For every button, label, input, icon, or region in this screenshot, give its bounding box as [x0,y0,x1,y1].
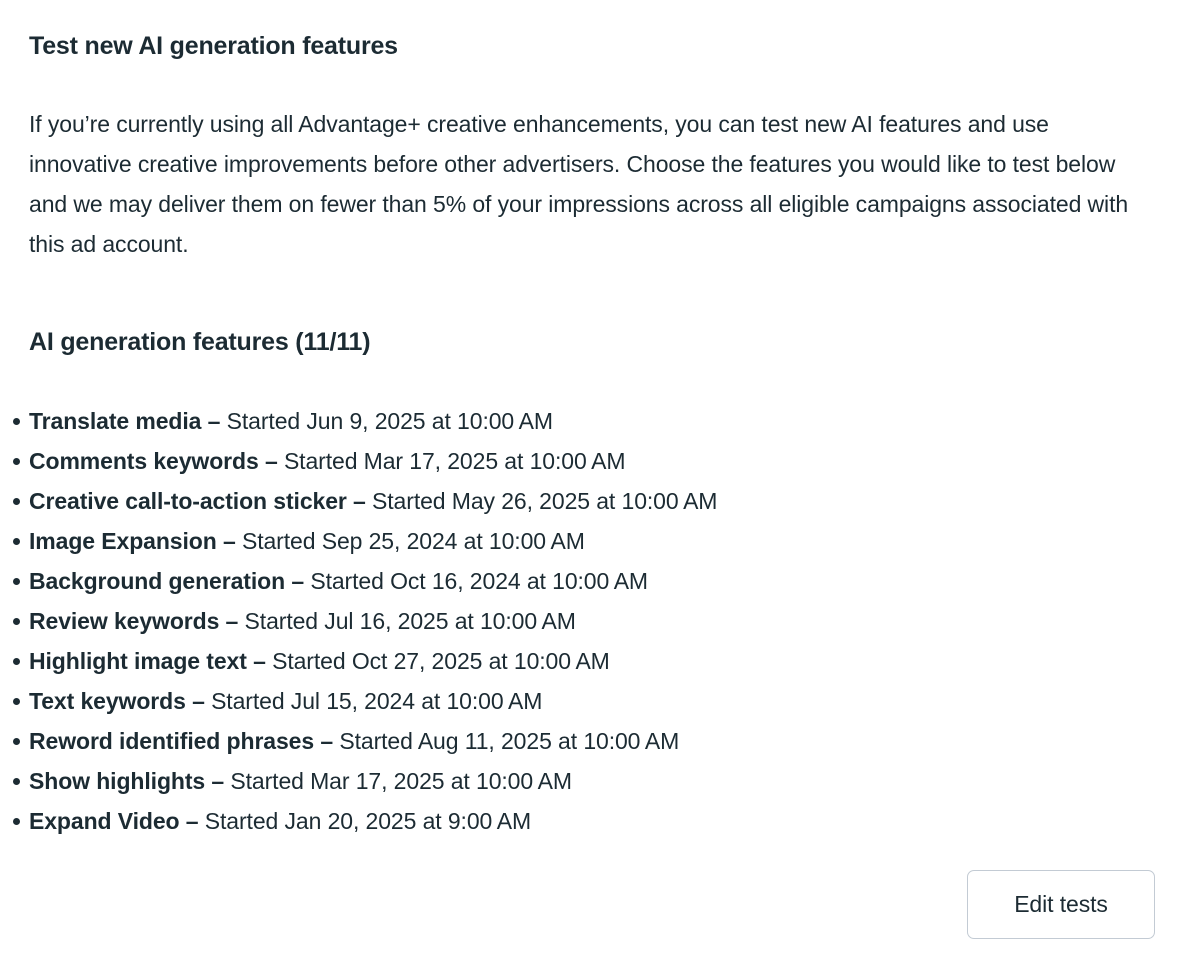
bullet-icon [13,578,20,585]
feature-separator: – [186,688,211,714]
page-title: Test new AI generation features [29,30,398,62]
list-item: Highlight image text – Started Oct 27, 2… [29,641,1178,681]
feature-separator: – [179,808,204,834]
feature-separator: – [314,728,339,754]
feature-status: Started Jan 20, 2025 at 9:00 AM [205,808,531,834]
panel-description: If you’re currently using all Advantage+… [29,104,1157,264]
bullet-icon [13,458,20,465]
list-item: Review keywords – Started Jul 16, 2025 a… [29,601,1178,641]
feature-name: Highlight image text [29,648,247,674]
feature-status: Started May 26, 2025 at 10:00 AM [372,488,717,514]
bullet-icon [13,538,20,545]
list-item: Comments keywords – Started Mar 17, 2025… [29,441,1178,481]
list-item: Expand Video – Started Jan 20, 2025 at 9… [29,801,1178,841]
feature-separator: – [217,528,242,554]
feature-name: Show highlights [29,768,205,794]
list-item: Show highlights – Started Mar 17, 2025 a… [29,761,1178,801]
feature-status: Started Mar 17, 2025 at 10:00 AM [284,448,626,474]
feature-name: Comments keywords [29,448,259,474]
feature-name: Background generation [29,568,285,594]
edit-tests-button[interactable]: Edit tests [967,870,1155,939]
list-item: Text keywords – Started Jul 15, 2024 at … [29,681,1178,721]
feature-separator: – [219,608,244,634]
bullet-icon [13,738,20,745]
list-item: Image Expansion – Started Sep 25, 2024 a… [29,521,1178,561]
feature-status: Started Sep 25, 2024 at 10:00 AM [242,528,585,554]
feature-name: Creative call-to-action sticker [29,488,347,514]
feature-status: Started Jun 9, 2025 at 10:00 AM [227,408,553,434]
bullet-icon [13,418,20,425]
list-item: Creative call-to-action sticker – Starte… [29,481,1178,521]
bullet-icon [13,498,20,505]
feature-separator: – [285,568,310,594]
bullet-icon [13,818,20,825]
footer-actions: Edit tests [0,870,1155,939]
section-heading-ai-generation-features: AI generation features (11/11) [29,326,370,358]
feature-status: Started Mar 17, 2025 at 10:00 AM [230,768,572,794]
list-item: Translate media – Started Jun 9, 2025 at… [29,401,1178,441]
bullet-icon [13,778,20,785]
list-item: Reword identified phrases – Started Aug … [29,721,1178,761]
feature-separator: – [259,448,284,474]
feature-name: Text keywords [29,688,186,714]
bullet-icon [13,658,20,665]
bullet-icon [13,698,20,705]
feature-list: Translate media – Started Jun 9, 2025 at… [0,401,1178,841]
feature-status: Started Aug 11, 2025 at 10:00 AM [339,728,679,754]
feature-separator: – [205,768,230,794]
feature-name: Review keywords [29,608,219,634]
feature-separator: – [347,488,372,514]
feature-status: Started Oct 27, 2025 at 10:00 AM [272,648,610,674]
feature-name: Image Expansion [29,528,217,554]
feature-separator: – [247,648,272,674]
feature-status: Started Jul 15, 2024 at 10:00 AM [211,688,542,714]
feature-name: Translate media [29,408,201,434]
ai-generation-features-panel: Test new AI generation features If you’r… [0,0,1178,964]
bullet-icon [13,618,20,625]
feature-name: Expand Video [29,808,179,834]
feature-name: Reword identified phrases [29,728,314,754]
list-item: Background generation – Started Oct 16, … [29,561,1178,601]
feature-status: Started Oct 16, 2024 at 10:00 AM [310,568,648,594]
feature-separator: – [201,408,226,434]
feature-status: Started Jul 16, 2025 at 10:00 AM [245,608,576,634]
